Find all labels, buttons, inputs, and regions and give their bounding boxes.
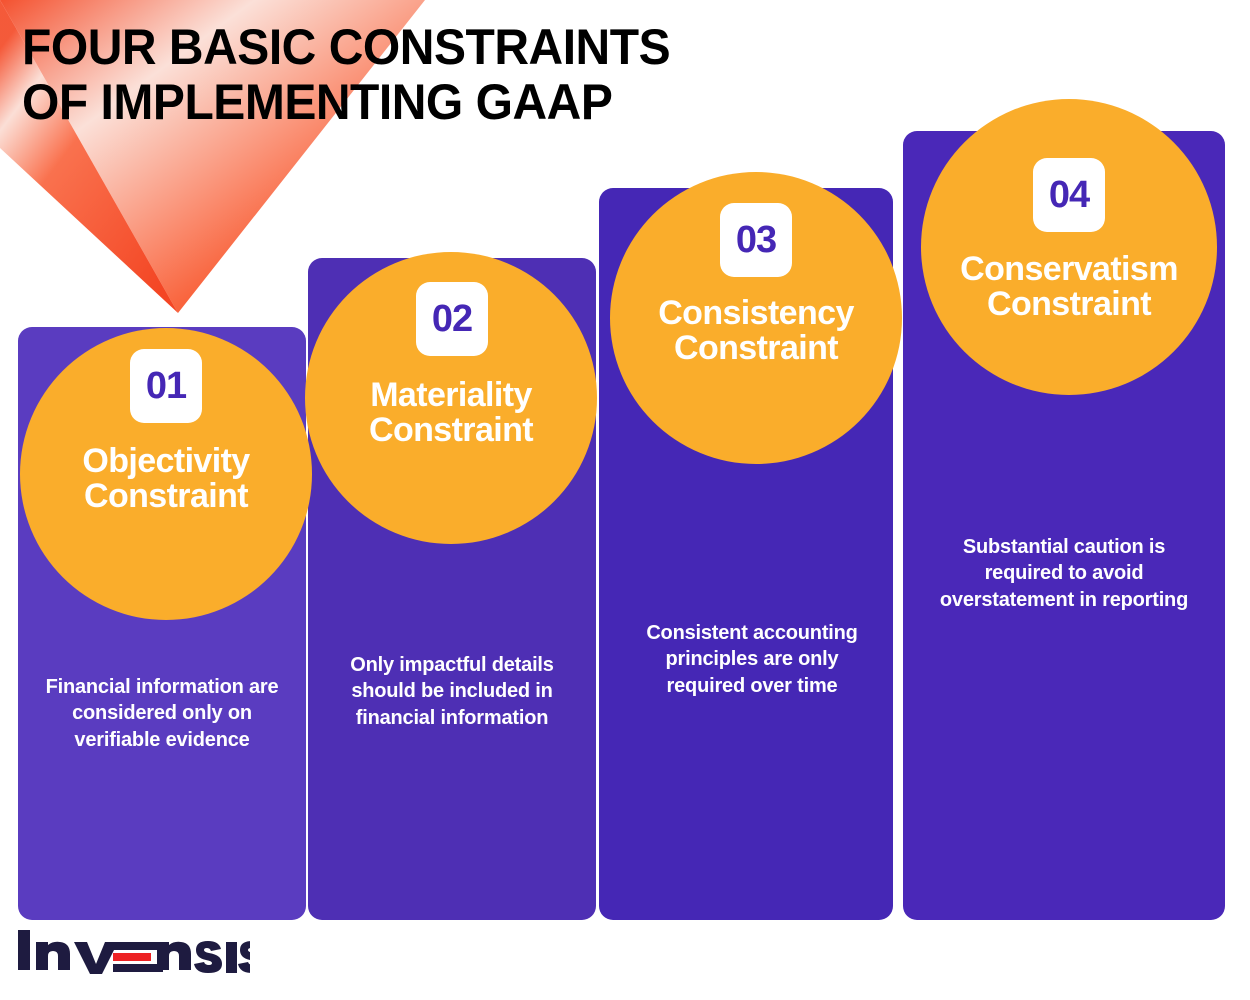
column-circle-04	[921, 99, 1217, 395]
column-description-02: Only impactful details should be include…	[312, 652, 592, 731]
column-number-badge-04: 04	[1033, 158, 1105, 232]
logo-red-bar-icon	[113, 953, 151, 961]
column-title-02: Materiality Constraint	[311, 378, 591, 449]
page-title: FOUR BASIC CONSTRAINTS OF IMPLEMENTING G…	[22, 20, 670, 130]
column-title-01: Objectivity Constraint	[26, 444, 306, 515]
infographic-canvas: FOUR BASIC CONSTRAINTS OF IMPLEMENTING G…	[0, 0, 1250, 1000]
column-number-badge-03: 03	[720, 203, 792, 277]
columns-container: 01 Objectivity Constraint Financial info…	[0, 0, 1250, 1000]
column-title-04: Conservatism Constraint	[929, 252, 1209, 323]
column-description-03: Consistent accounting principles are onl…	[608, 620, 896, 699]
column-description-01: Financial information are considered onl…	[22, 674, 302, 753]
invensis-logo[interactable]	[18, 926, 250, 974]
column-description-04: Substantial caution is required to avoid…	[905, 534, 1223, 613]
column-number-badge-01: 01	[130, 349, 202, 423]
column-number-badge-02: 02	[416, 282, 488, 356]
column-title-03: Consistency Constraint	[616, 296, 896, 367]
